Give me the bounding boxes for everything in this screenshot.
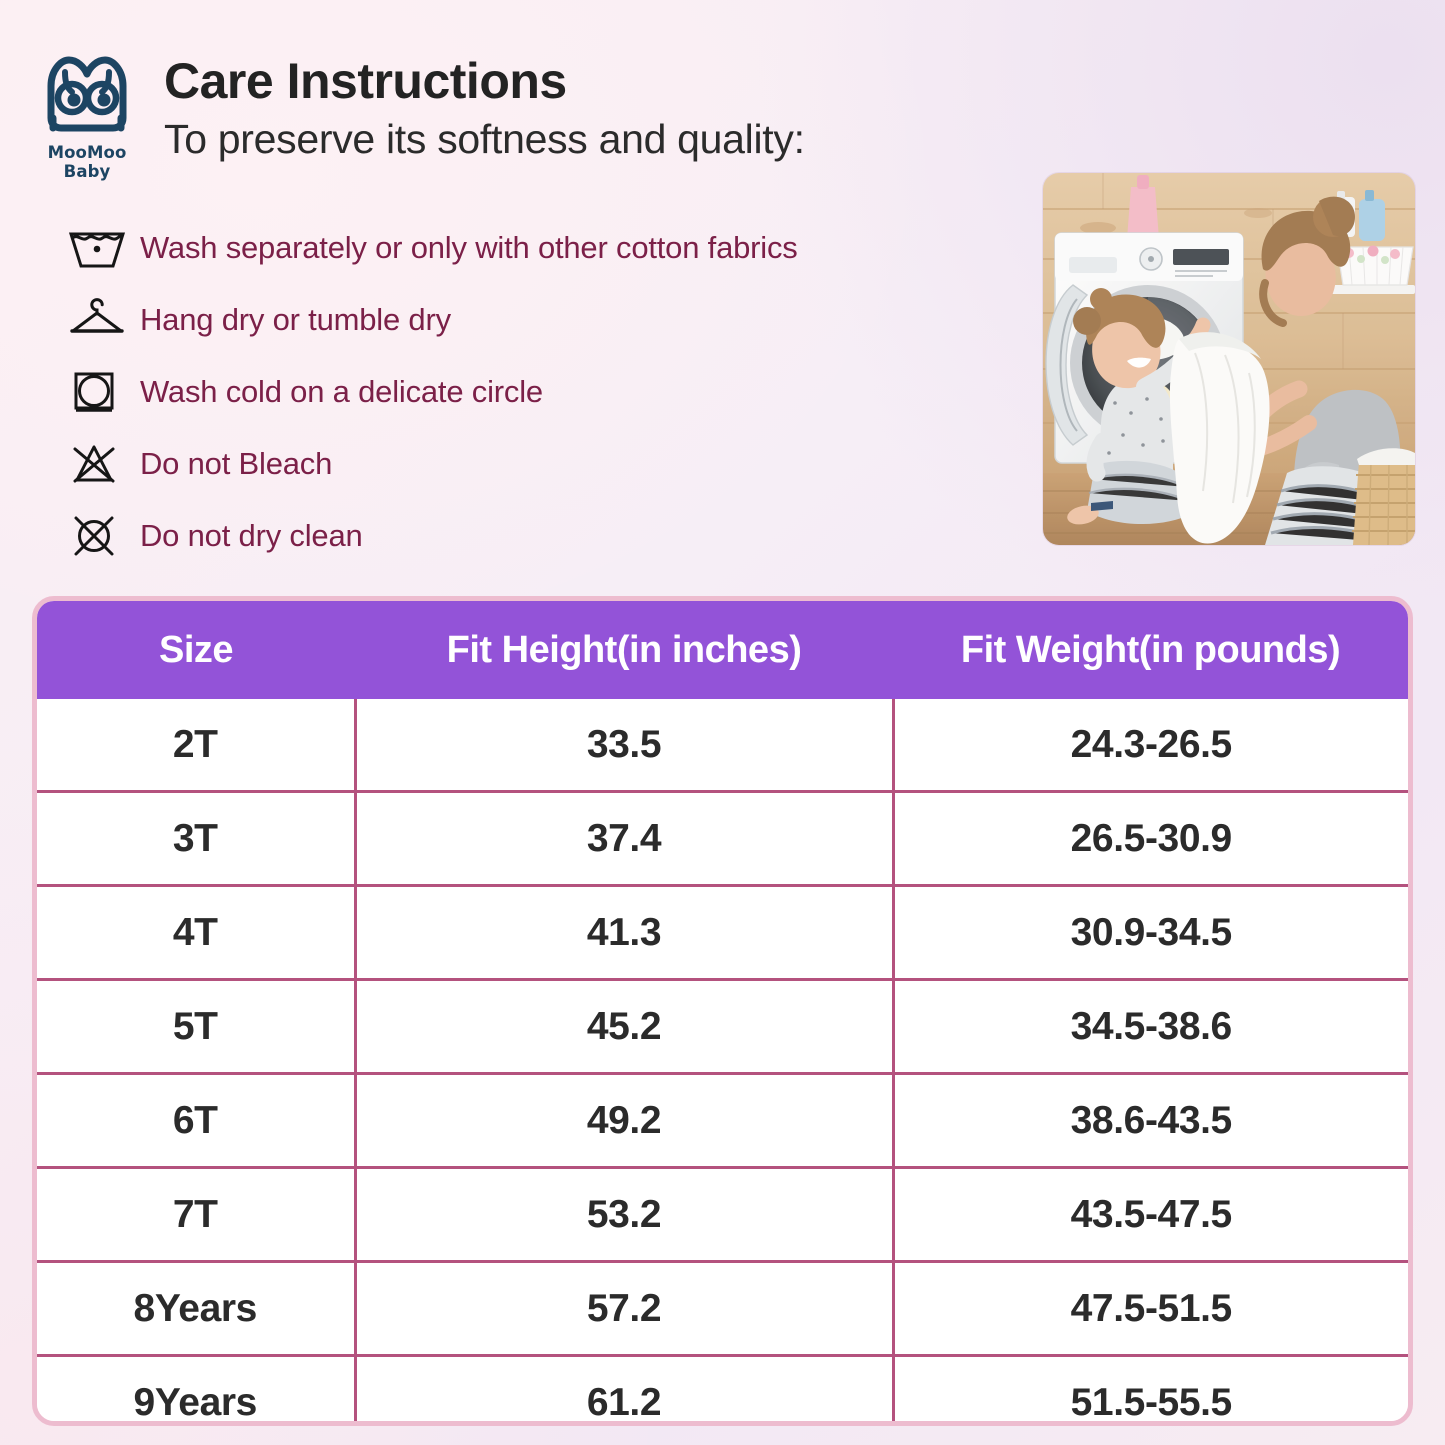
care-item-label: Do not dry clean	[140, 518, 363, 554]
care-item-wash-separately: Wash separately or only with other cotto…	[60, 212, 1040, 284]
owl-logo-icon	[22, 52, 152, 141]
cell-height: 49.2	[355, 1074, 893, 1168]
cell-weight: 38.6-43.5	[893, 1074, 1408, 1168]
do-not-bleach-icon	[60, 441, 140, 487]
cell-weight: 24.3-26.5	[893, 699, 1408, 792]
cell-size: 5T	[37, 980, 355, 1074]
cell-weight: 26.5-30.9	[893, 792, 1408, 886]
column-header-size: Size	[37, 601, 355, 699]
column-header-fit-weight: Fit Weight(in pounds)	[893, 601, 1408, 699]
tumble-dry-square-icon	[60, 369, 140, 415]
brand-name: MooMoo Baby	[22, 143, 152, 181]
cell-weight: 51.5-55.5	[893, 1356, 1408, 1427]
table-row: 3T 37.4 26.5-30.9	[37, 792, 1408, 886]
cell-size: 8Years	[37, 1262, 355, 1356]
care-item-label: Wash cold on a delicate circle	[140, 374, 543, 410]
page-subtitle: To preserve its softness and quality:	[164, 119, 805, 160]
care-item-label: Wash separately or only with other cotto…	[140, 230, 798, 266]
care-instructions-page: MooMoo Baby Care Instructions To preserv…	[0, 0, 1445, 1445]
column-header-fit-height: Fit Height(in inches)	[355, 601, 893, 699]
care-item-wash-cold-delicate: Wash cold on a delicate circle	[60, 356, 1040, 428]
size-chart: Size Fit Height(in inches) Fit Weight(in…	[37, 601, 1408, 1426]
care-item-do-not-dry-clean: Do not dry clean	[60, 500, 1040, 572]
size-chart-table: Size Fit Height(in inches) Fit Weight(in…	[32, 596, 1413, 1426]
cell-size: 7T	[37, 1168, 355, 1262]
cell-height: 45.2	[355, 980, 893, 1074]
header-row: Size Fit Height(in inches) Fit Weight(in…	[37, 601, 1408, 699]
cell-weight: 30.9-34.5	[893, 886, 1408, 980]
cell-size: 9Years	[37, 1356, 355, 1427]
brand-logo: MooMoo Baby	[22, 52, 152, 181]
cell-height: 53.2	[355, 1168, 893, 1262]
cell-height: 61.2	[355, 1356, 893, 1427]
cell-size: 2T	[37, 699, 355, 792]
table-row: 6T 49.2 38.6-43.5	[37, 1074, 1408, 1168]
care-item-hang-dry: Hang dry or tumble dry	[60, 284, 1040, 356]
table-row: 2T 33.5 24.3-26.5	[37, 699, 1408, 792]
care-item-label: Hang dry or tumble dry	[140, 302, 451, 338]
cell-height: 57.2	[355, 1262, 893, 1356]
care-item-label: Do not Bleach	[140, 446, 332, 482]
page-title: Care Instructions	[164, 56, 567, 106]
cell-height: 41.3	[355, 886, 893, 980]
table-row: 8Years 57.2 47.5-51.5	[37, 1262, 1408, 1356]
table-row: 7T 53.2 43.5-47.5	[37, 1168, 1408, 1262]
cell-size: 4T	[37, 886, 355, 980]
cell-size: 3T	[37, 792, 355, 886]
laundry-photo	[1043, 173, 1415, 545]
clothes-hanger-icon	[60, 297, 140, 343]
cell-weight: 43.5-47.5	[893, 1168, 1408, 1262]
table-row: 5T 45.2 34.5-38.6	[37, 980, 1408, 1074]
cell-weight: 34.5-38.6	[893, 980, 1408, 1074]
care-item-do-not-bleach: Do not Bleach	[60, 428, 1040, 500]
cell-height: 33.5	[355, 699, 893, 792]
do-not-dry-clean-icon	[60, 513, 140, 559]
table-header: Size Fit Height(in inches) Fit Weight(in…	[37, 601, 1408, 699]
cell-height: 37.4	[355, 792, 893, 886]
care-instruction-list: Wash separately or only with other cotto…	[60, 212, 1040, 572]
cell-weight: 47.5-51.5	[893, 1262, 1408, 1356]
table-row: 4T 41.3 30.9-34.5	[37, 886, 1408, 980]
wash-tub-icon	[60, 225, 140, 271]
table-body: 2T 33.5 24.3-26.5 3T 37.4 26.5-30.9 4T 4…	[37, 699, 1408, 1426]
table-row: 9Years 61.2 51.5-55.5	[37, 1356, 1408, 1427]
cell-size: 6T	[37, 1074, 355, 1168]
